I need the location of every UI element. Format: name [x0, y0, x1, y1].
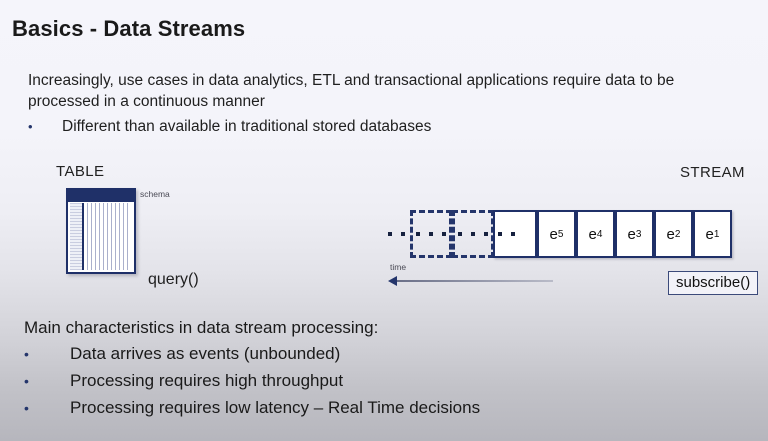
stream-event-box-e4: e4: [576, 210, 615, 258]
stream-event-box-e2: e2: [654, 210, 693, 258]
stream-event-label-e1: e1: [695, 212, 730, 256]
query-label: query(): [148, 271, 199, 289]
stream-event-box-e5: e5: [537, 210, 576, 258]
table-row-index-column: [70, 203, 84, 270]
bottom-bullet-label-1: Data arrives as events (unbounded): [70, 344, 340, 364]
subscribe-button[interactable]: subscribe(): [668, 271, 758, 295]
table-figure: [66, 188, 136, 274]
stream-ellipsis-dots-2: [416, 231, 446, 236]
bottom-bullet-list: • Data arrives as events (unbounded) • P…: [24, 344, 724, 425]
bottom-bullet-label-2: Processing requires high throughput: [70, 371, 343, 391]
table-grid-cells: [87, 203, 131, 270]
intro-paragraph: Increasingly, use cases in data analytic…: [28, 70, 740, 112]
bullet-dot-icon: •: [24, 373, 70, 389]
table-header-bar: [68, 190, 134, 202]
time-axis-arrow-icon: [388, 276, 397, 286]
bottom-bullet-item-2: • Processing requires high throughput: [24, 371, 724, 398]
page-title: Basics - Data Streams: [12, 16, 245, 42]
stream-event-label-e5: e5: [539, 212, 574, 256]
main-characteristics-heading: Main characteristics in data stream proc…: [24, 318, 378, 338]
stream-ellipsis-dots-3: [458, 231, 488, 236]
stream-figure-label: STREAM: [680, 164, 745, 181]
bottom-bullet-item-3: • Processing requires low latency – Real…: [24, 398, 724, 425]
stream-event-box-e3: e3: [615, 210, 654, 258]
bullet-dot-icon: •: [24, 400, 70, 416]
stream-event-label-e4: e4: [578, 212, 613, 256]
stream-ellipsis-dots-1: [388, 231, 405, 236]
top-bullet-label: Different than available in traditional …: [62, 118, 431, 136]
bottom-bullet-label-3: Processing requires low latency – Real T…: [70, 398, 480, 418]
stream-event-label-e2: e2: [656, 212, 691, 256]
top-bullet-item: • Different than available in traditiona…: [28, 118, 728, 136]
stream-event-label-e3: e3: [617, 212, 652, 256]
bottom-bullet-item-1: • Data arrives as events (unbounded): [24, 344, 724, 371]
table-figure-label: TABLE: [56, 163, 104, 180]
stream-figure: e5 e4 e3 e2 e1: [386, 210, 696, 258]
time-axis: [388, 276, 553, 286]
stream-event-box-e1: e1: [693, 210, 732, 258]
time-axis-line: [396, 280, 553, 282]
time-axis-label: time: [390, 262, 406, 272]
bullet-dot-icon: •: [28, 119, 62, 134]
schema-label: schema: [140, 189, 170, 199]
bullet-dot-icon: •: [24, 346, 70, 362]
slide-canvas: Basics - Data Streams Increasingly, use …: [0, 0, 768, 441]
stream-ellipsis-dots-4: [498, 231, 515, 236]
